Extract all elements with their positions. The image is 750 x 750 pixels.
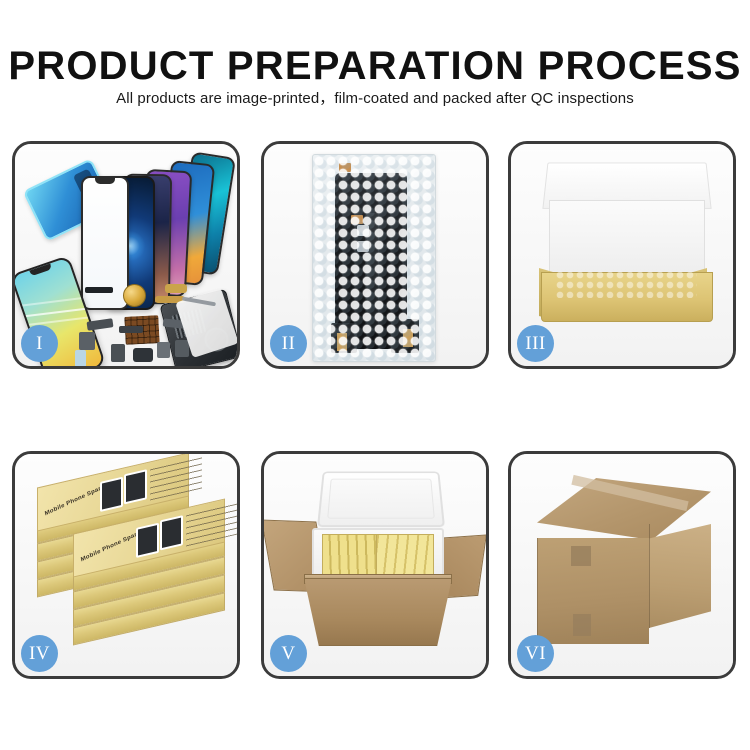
step-panel: III — [508, 141, 736, 369]
process-step-4: Mobile Phone Spare Parts Mobile Phone Sp… — [12, 451, 240, 679]
bubble-texture-icon — [313, 155, 435, 361]
step-badge-3: III — [517, 325, 554, 362]
spare-part-icon — [175, 340, 189, 357]
spare-part-icon — [157, 342, 170, 358]
spare-part-icon — [111, 344, 125, 362]
page-subtitle: All products are image-printed，film-coat… — [0, 90, 750, 108]
step-badge-6: VI — [517, 635, 554, 672]
process-step-2: II — [261, 141, 489, 369]
box-printed-screen-icon — [100, 477, 123, 512]
process-step-6: VI — [508, 451, 736, 679]
carton-crease-icon — [537, 538, 538, 644]
carton-seam-icon — [573, 614, 591, 636]
carton-crease-icon — [649, 524, 650, 628]
spare-part-icon — [165, 284, 187, 293]
spare-part-icon — [85, 287, 113, 293]
spare-part-icon — [75, 350, 86, 366]
bubble-wrapped-contents-icon — [555, 270, 697, 298]
step-badge-2: II — [270, 325, 307, 362]
product-preparation-infographic: PRODUCT PREPARATION PROCESS All products… — [0, 0, 750, 750]
box-printed-spec-lines — [150, 454, 202, 500]
process-step-1: I — [12, 141, 240, 369]
box-stack-group: Mobile Phone Spare Parts Mobile Phone Sp… — [21, 468, 237, 668]
carton-side-face-icon — [649, 524, 711, 628]
speaker-coil-icon — [123, 284, 146, 307]
carton-body-icon — [304, 578, 452, 646]
foam-lid-icon — [317, 472, 445, 528]
step-panel: Mobile Phone Spare Parts Mobile Phone Sp… — [12, 451, 240, 679]
carton-seam-icon — [571, 546, 591, 566]
box-printed-screen-icon — [124, 469, 147, 504]
step-panel: I — [12, 141, 240, 369]
spare-part-icon — [119, 326, 143, 333]
process-step-5: V — [261, 451, 489, 679]
box-printed-screen-icon — [136, 523, 159, 558]
box-back-wall-icon — [549, 200, 705, 280]
step-badge-5: V — [270, 635, 307, 672]
box-printed-spec-lines — [186, 500, 237, 546]
process-step-grid: I — [12, 141, 738, 679]
box-printed-screen-icon — [160, 515, 183, 550]
carton-front-face-icon — [537, 538, 649, 644]
step-panel: V — [261, 451, 489, 679]
spare-part-icon — [79, 332, 95, 350]
step-badge-4: IV — [21, 635, 58, 672]
step-badge-1: I — [21, 325, 58, 362]
step-panel: II — [261, 141, 489, 369]
spare-part-icon — [133, 348, 153, 362]
yellow-boxes-row-icon — [376, 534, 434, 578]
step-panel: VI — [508, 451, 736, 679]
process-step-3: III — [508, 141, 736, 369]
page-title: PRODUCT PREPARATION PROCESS — [0, 44, 750, 88]
bubble-wrap-bag-icon — [312, 154, 436, 362]
